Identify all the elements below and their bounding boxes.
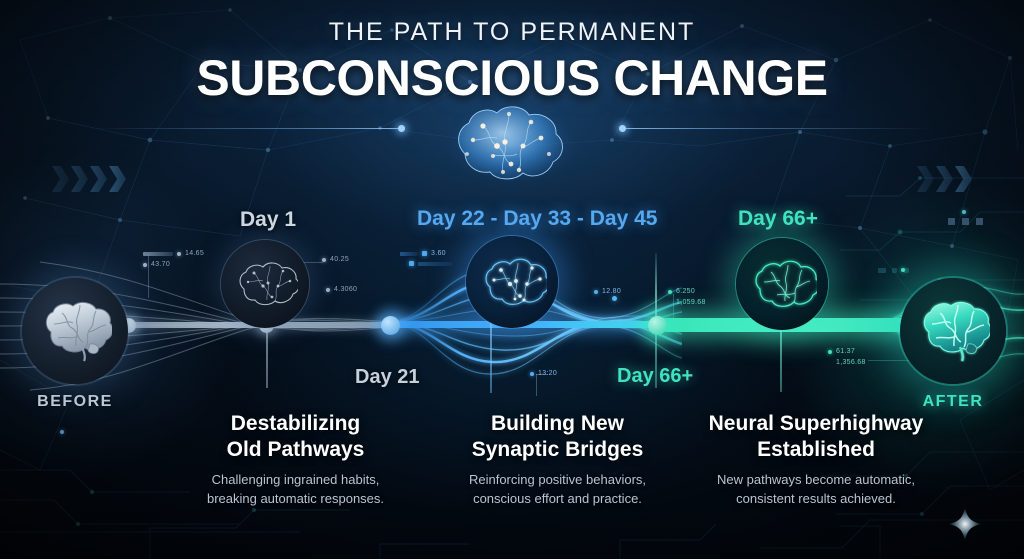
day-label-21: Day 21	[355, 366, 420, 389]
hud-value: 3.60	[431, 250, 446, 257]
chevron-group-right	[917, 166, 972, 192]
stage-title-line1: Building New	[491, 412, 624, 435]
stage-title-line1: Neural Superhighway	[709, 412, 924, 435]
stage-title: Building New Synaptic Bridges	[430, 411, 685, 462]
hud-dot	[143, 263, 147, 267]
accent-dot	[901, 268, 905, 272]
hud-dot	[828, 350, 832, 354]
hud-leader-line	[536, 374, 537, 396]
hud-value: 40.25	[330, 256, 349, 263]
stage-caption-destabilizing: Destabilizing Old Pathways Challenging i…	[168, 411, 423, 508]
chevron-group-left	[52, 166, 126, 192]
corner-chip	[976, 218, 983, 225]
hud-value: 4.3060	[334, 286, 357, 293]
day-label-1: Day 1	[240, 208, 296, 232]
brain-outline-icon	[747, 257, 817, 311]
chevron-right-icon	[90, 166, 107, 192]
hud-readout-43060: 4.3060	[326, 286, 357, 297]
day-label-22-33-45: Day 22 - Day 33 - Day 45	[417, 207, 657, 231]
header-block: THE PATH TO PERMANENT SUBCONSCIOUS CHANG…	[0, 18, 1024, 103]
stage-title: Neural Superhighway Established	[680, 411, 952, 462]
header-dot-right	[619, 125, 626, 132]
endcap-before[interactable]: BEFORE	[22, 278, 128, 411]
brain-icon-grey	[38, 300, 112, 362]
brain-orb-after	[900, 278, 1006, 384]
hud-dot	[177, 252, 181, 256]
brain-icon-teal	[916, 300, 990, 362]
brain-outline-icon	[477, 255, 547, 309]
hud-readout-360: 3.60	[400, 250, 452, 270]
hud-square	[409, 261, 414, 266]
accent-dot	[60, 430, 64, 434]
timeline-node-day21[interactable]	[381, 316, 400, 335]
corner-chip	[962, 218, 969, 225]
infographic-canvas: THE PATH TO PERMANENT SUBCONSCIOUS CHANG…	[0, 0, 1024, 559]
hud-dot	[594, 290, 598, 294]
stage-title: Destabilizing Old Pathways	[168, 411, 423, 462]
brain-outline-icon	[232, 259, 298, 309]
brain-orb-before	[22, 278, 128, 384]
header-kicker: THE PATH TO PERMANENT	[0, 18, 1024, 47]
accent-dot	[962, 210, 966, 214]
stage-title-line2: Established	[757, 438, 875, 461]
hud-value: 12.80	[602, 288, 621, 295]
stage-caption-building: Building New Synaptic Bridges Reinforcin…	[430, 411, 685, 508]
chevron-right-icon	[917, 166, 934, 192]
page-title: SUBCONSCIOUS CHANGE	[0, 53, 1024, 103]
hud-value: 43.70	[151, 261, 170, 268]
stage-sub-line2: breaking automatic responses.	[207, 491, 384, 506]
hud-leader-line	[148, 254, 149, 298]
stage-subtitle: Reinforcing positive behaviors, consciou…	[430, 471, 685, 508]
stage-title-line1: Destabilizing	[231, 412, 361, 435]
stage-sub-line1: New pathways become automatic,	[717, 472, 915, 487]
accent-dot	[612, 296, 617, 301]
stage-subtitle: New pathways become automatic, consisten…	[680, 471, 952, 508]
stage-brain-building[interactable]	[466, 236, 558, 328]
hud-value: 14.65	[185, 250, 204, 257]
chevron-right-icon	[955, 166, 972, 192]
endcap-after[interactable]: AFTER	[900, 278, 1006, 411]
hud-value: 1,356.68	[836, 359, 866, 366]
hud-readout-1280: 12.80	[594, 288, 621, 299]
endcap-after-label: AFTER	[900, 393, 1006, 411]
hud-bar	[400, 252, 418, 256]
hud-leader-line	[536, 374, 548, 375]
header-brain-icon	[437, 96, 587, 191]
header-rule-left	[92, 128, 400, 129]
hud-readout-4025: 40.25	[322, 256, 349, 267]
chevron-right-icon	[71, 166, 88, 192]
stage-title-line2: Old Pathways	[227, 438, 365, 461]
stage-sub-line2: consistent results achieved.	[736, 491, 896, 506]
hud-bar	[418, 262, 452, 266]
day-label-66-top: Day 66+	[738, 207, 818, 231]
hud-readout-6137: 61.37 1,356.68	[828, 348, 866, 370]
hud-value: 1,059.68	[676, 299, 706, 306]
hud-value: 6.250	[676, 288, 695, 295]
corner-chip	[948, 218, 955, 225]
stage-sub-line2: conscious effort and practice.	[473, 491, 642, 506]
stage-title-line2: Synaptic Bridges	[472, 438, 644, 461]
timeline-node-day66[interactable]	[648, 316, 667, 335]
hud-dot	[668, 290, 672, 294]
hud-dot	[322, 258, 326, 262]
endcap-before-label: BEFORE	[22, 393, 128, 411]
stage-sub-line1: Reinforcing positive behaviors,	[469, 472, 646, 487]
hud-dot	[530, 372, 534, 376]
chevron-right-icon	[52, 166, 69, 192]
day-label-66-bottom: Day 66+	[617, 365, 693, 388]
header-dot-left	[398, 125, 405, 132]
hud-readout-time: 13:20	[530, 370, 557, 381]
header-rule-right	[624, 128, 932, 129]
chevron-right-icon	[109, 166, 126, 192]
stage-brain-destabilizing[interactable]	[221, 240, 309, 328]
stage-caption-superhighway: Neural Superhighway Established New path…	[680, 411, 952, 508]
chevron-right-icon	[936, 166, 953, 192]
stage-subtitle: Challenging ingrained habits, breaking a…	[168, 471, 423, 508]
hud-square	[422, 251, 427, 256]
hud-readout-1465: 14.65 43.70	[143, 250, 204, 272]
stage-sub-line1: Challenging ingrained habits,	[212, 472, 380, 487]
stage-brain-superhighway[interactable]	[736, 238, 828, 330]
sparkle-icon	[948, 507, 982, 541]
hud-value: 61.37	[836, 348, 855, 355]
hud-dot	[326, 288, 330, 292]
